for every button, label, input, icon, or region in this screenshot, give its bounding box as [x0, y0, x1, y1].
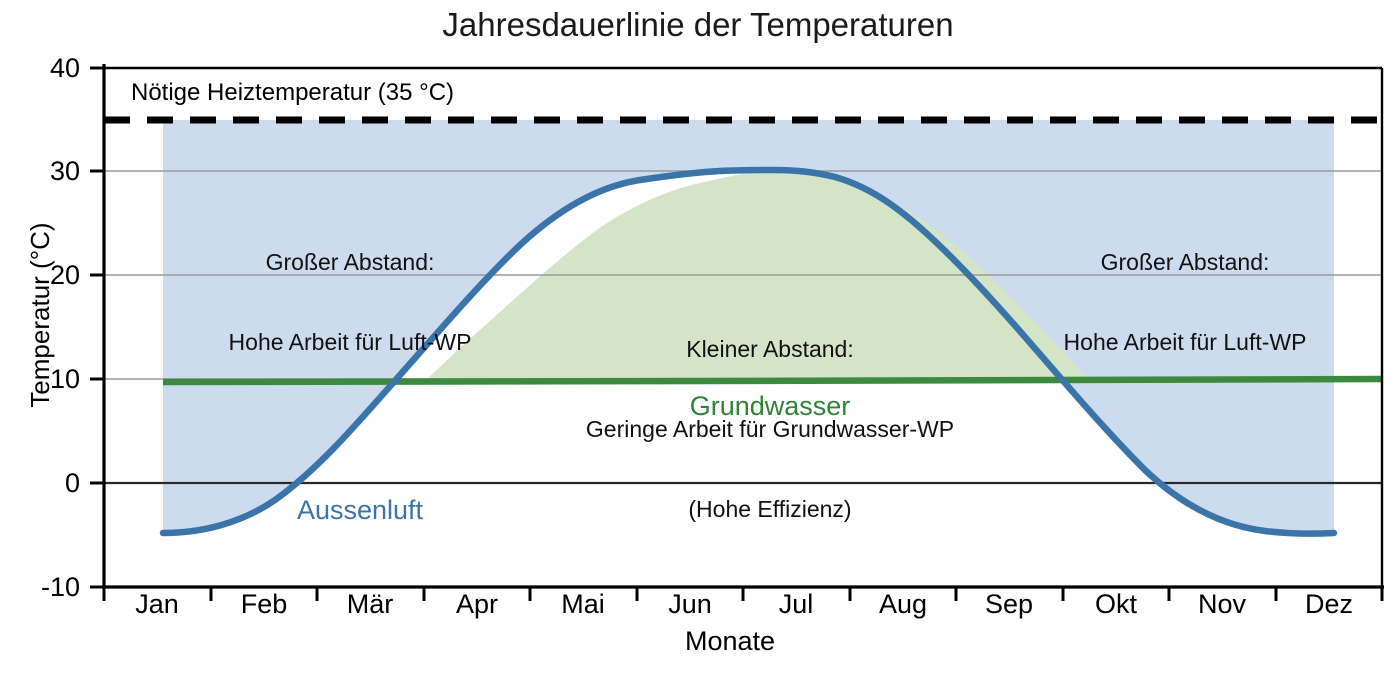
y-tick-label-20: 20 [0, 260, 80, 291]
x-tick-label-apr: Apr [417, 589, 537, 620]
series-label-grundwasser: Grundwasser [540, 391, 1000, 422]
y-tick-label-10: 10 [0, 364, 80, 395]
x-axis-title: Monate [0, 626, 1396, 657]
annotation-center: Kleiner Abstand: Geringe Arbeit für Grun… [540, 283, 1000, 576]
y-tick-label-40: 40 [0, 53, 80, 84]
y-axis-title: Temperatur (°C) [25, 165, 55, 465]
annotation-left: Großer Abstand: Hohe Arbeit für Luft-WP [190, 196, 510, 409]
x-tick-label-jan: Jan [97, 589, 217, 620]
y-tick-label-neg10: -10 [0, 572, 80, 603]
x-tick-label-aug: Aug [843, 589, 963, 620]
x-tick-label-nov: Nov [1162, 589, 1282, 620]
y-tick-marks [90, 68, 104, 587]
annotation-center-line3: (Hohe Effizienz) [540, 496, 1000, 523]
chart-title: Jahresdauerlinie der Temperaturen [0, 6, 1396, 44]
x-tick-label-dez: Dez [1269, 589, 1389, 620]
x-tick-label-mai: Mai [523, 589, 643, 620]
annotation-right-line1: Großer Abstand: [1025, 249, 1345, 276]
x-tick-label-jun: Jun [630, 589, 750, 620]
annotation-center-line1: Kleiner Abstand: [540, 336, 1000, 363]
x-tick-label-feb: Feb [204, 589, 324, 620]
annotation-right-line2: Hohe Arbeit für Luft-WP [1025, 329, 1345, 356]
annotation-left-line1: Großer Abstand: [190, 249, 510, 276]
x-tick-label-sep: Sep [949, 589, 1069, 620]
series-label-aussenluft: Aussenluft [200, 495, 520, 526]
annotation-left-line2: Hohe Arbeit für Luft-WP [190, 329, 510, 356]
x-tick-label-jul: Jul [736, 589, 856, 620]
y-tick-label-30: 30 [0, 156, 80, 187]
annotation-right: Großer Abstand: Hohe Arbeit für Luft-WP [1025, 196, 1345, 409]
x-tick-label-okt: Okt [1056, 589, 1176, 620]
y-tick-label-0: 0 [0, 468, 80, 499]
x-tick-label-maer: Mär [310, 589, 430, 620]
heat-threshold-label: Nötige Heiztemperatur (35 °C) [131, 79, 454, 107]
chart-figure: Jahresdauerlinie der Temperaturen Temper… [0, 0, 1396, 698]
